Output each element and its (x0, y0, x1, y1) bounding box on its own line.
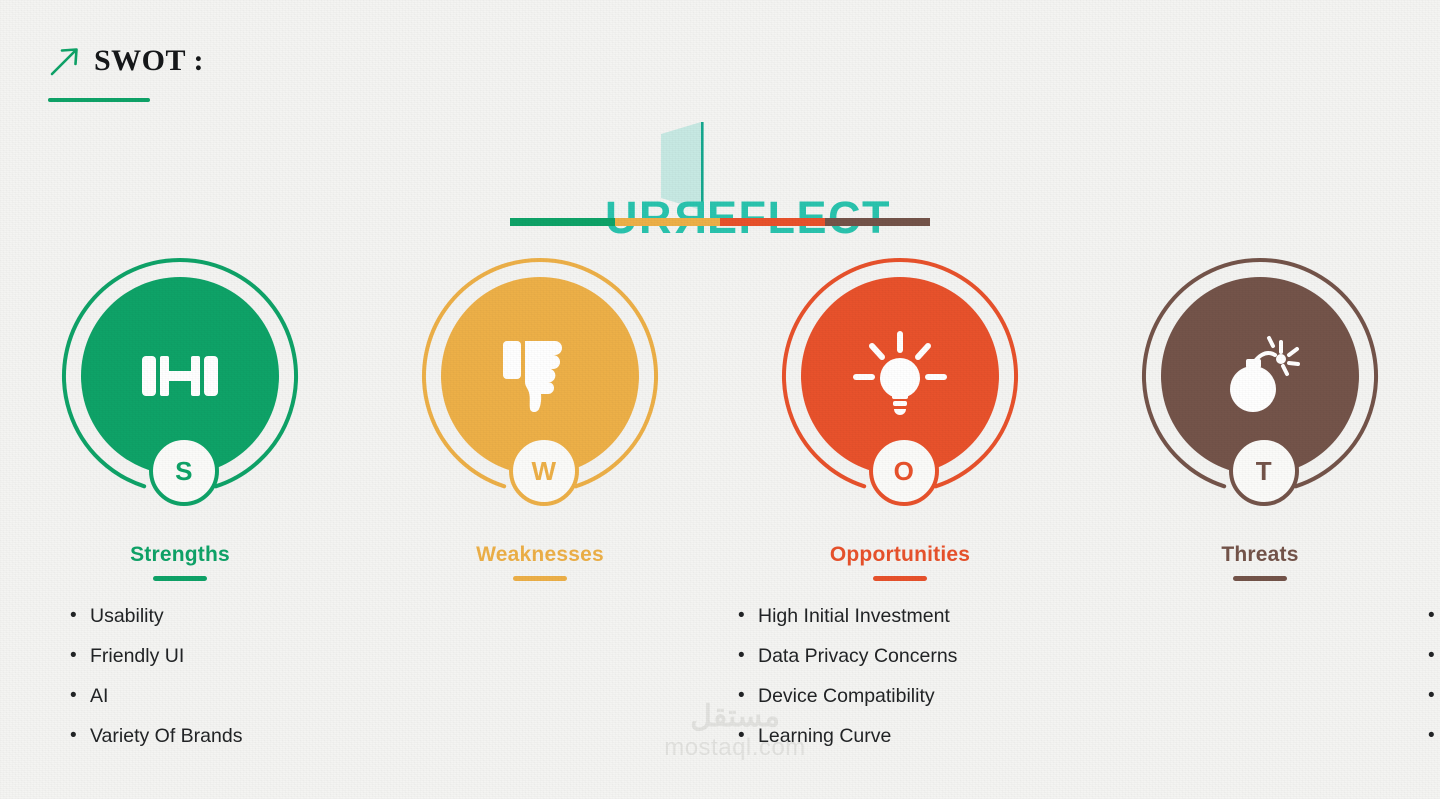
swot-columns: SStrengthsUsabilityFriendly UIAIVariety … (0, 250, 1440, 581)
swot-title-underline-threats (1233, 576, 1287, 581)
swot-title-underline-strengths (153, 576, 207, 581)
page-title: SWOT : (94, 44, 204, 78)
brand-bar-segment-0 (510, 218, 615, 226)
swot-list-weaknesses: High Initial InvestmentData Privacy Conc… (738, 596, 957, 756)
list-item: High Initial Investment (738, 596, 957, 636)
swot-column-opportunities: OOpportunitiesTrendy VendorsHigh End Pro… (720, 250, 1080, 581)
brand-bar-segment-1 (615, 218, 720, 226)
page-header: SWOT : (48, 44, 204, 78)
swot-letter-badge-strengths: S (149, 436, 219, 506)
thumbs-down-icon (501, 335, 579, 417)
dumbbell-icon (132, 340, 228, 412)
swot-list-opportunities: Trendy VendorsHigh End ProductsPartnersh… (1428, 596, 1440, 756)
brand-logo: URREFLECT (510, 122, 930, 234)
swot-title-weaknesses: Weaknesses (360, 543, 720, 567)
bomb-icon (1219, 333, 1301, 419)
list-item: Trendy Vendors (1428, 596, 1440, 636)
swot-icon-group-weaknesses: W (420, 250, 660, 515)
swot-title-opportunities: Opportunities (720, 543, 1080, 567)
list-item: Learning Curve (738, 716, 957, 756)
brand-bar-segment-2 (720, 218, 825, 226)
swot-title-threats: Threats (1080, 543, 1440, 567)
arrow-up-right-icon (48, 44, 82, 78)
swot-letter-badge-weaknesses: W (509, 436, 579, 506)
swot-column-weaknesses: WWeaknessesHigh Initial InvestmentData P… (360, 250, 720, 581)
brand-color-bar (510, 218, 930, 226)
list-item: Variety Of Brands (70, 716, 242, 756)
list-item: Device Compatibility (738, 676, 957, 716)
list-item: Usability (70, 596, 242, 636)
swot-title-underline-weaknesses (513, 576, 567, 581)
list-item: Enhanced Customer Loyalty (1428, 716, 1440, 756)
swot-column-threats: TThreatsTechnological CompetitionPrivacy… (1080, 250, 1440, 581)
list-item: AI (70, 676, 242, 716)
list-item: Partnerships with Retailers (1428, 676, 1440, 716)
swot-title-underline-opportunities (873, 576, 927, 581)
lightbulb-icon (852, 330, 948, 422)
swot-icon-group-opportunities: O (780, 250, 1020, 515)
swot-list-strengths: UsabilityFriendly UIAIVariety Of Brands (70, 596, 242, 756)
swot-column-strengths: SStrengthsUsabilityFriendly UIAIVariety … (0, 250, 360, 581)
list-item: High End Products (1428, 636, 1440, 676)
swot-icon-group-threats: T (1140, 250, 1380, 515)
brand-bar-segment-3 (825, 218, 930, 226)
swot-letter-badge-threats: T (1229, 436, 1299, 506)
list-item: Data Privacy Concerns (738, 636, 957, 676)
swot-title-strengths: Strengths (0, 543, 360, 567)
list-item: Friendly UI (70, 636, 242, 676)
swot-letter-badge-opportunities: O (869, 436, 939, 506)
swot-icon-group-strengths: S (60, 250, 300, 515)
header-underline (48, 98, 150, 102)
